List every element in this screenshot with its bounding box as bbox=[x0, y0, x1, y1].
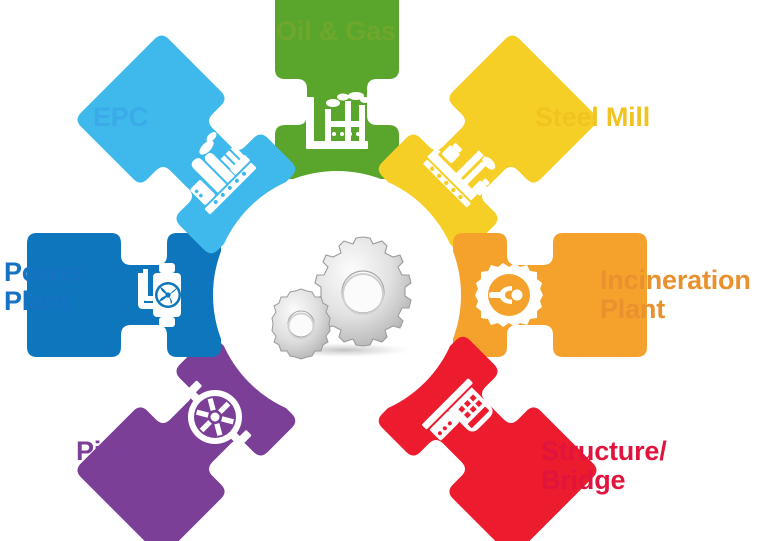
diagram-canvas: Oil & Gas Steel Mill Incineration Plant … bbox=[0, 0, 774, 541]
label-epc: EPC bbox=[93, 103, 148, 132]
label-power-plant: Power Plant bbox=[4, 258, 84, 315]
small-gear bbox=[272, 289, 330, 359]
label-oil-gas: Oil & Gas bbox=[276, 17, 396, 46]
label-structure-bridge: Structure/ Bridge bbox=[541, 437, 667, 494]
label-incineration-plant: Incineration Plant bbox=[600, 266, 751, 323]
label-pipe: Pipe bbox=[76, 437, 132, 466]
gear-wrench-icon bbox=[475, 263, 543, 327]
label-steel-mill: Steel Mill bbox=[535, 103, 650, 132]
